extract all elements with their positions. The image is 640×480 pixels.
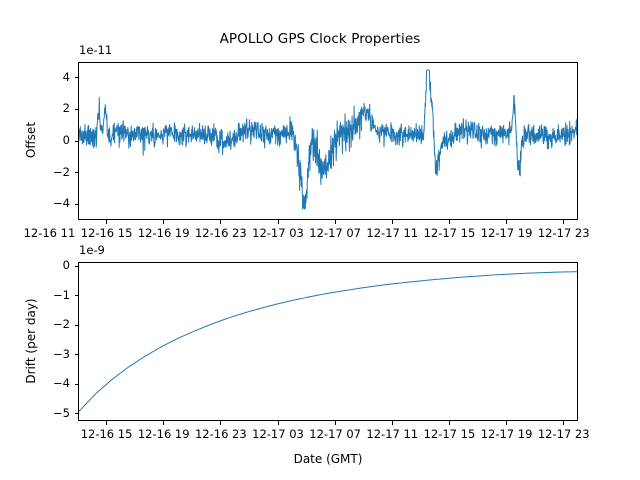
drift-xtick-label: 12-17 07 [309,427,361,441]
drift-ytick-label: −3 [30,347,70,361]
offset-ytick-mark [75,109,79,110]
drift-xtick-label: 12-17 11 [366,427,418,441]
offset-xtick-label: 12-17 19 [481,226,533,240]
drift-xtick-label: 12-17 19 [481,427,533,441]
offset-xtick-mark [392,220,393,224]
offset-ytick-mark [75,172,79,173]
drift-plot-area [78,262,578,421]
drift-ytick-label: −4 [30,376,70,390]
offset-plot-area [78,62,578,220]
drift-ytick-mark [75,384,79,385]
figure-canvas: APOLLO GPS Clock Properties 1e-11 Offset… [0,0,640,480]
offset-xtick-label: 12-16 23 [195,226,247,240]
drift-xtick-mark [392,421,393,425]
drift-ytick-label: −1 [30,288,70,302]
drift-xtick-mark [563,421,564,425]
drift-xtick-mark [506,421,507,425]
offset-xtick-label: 12-17 11 [366,226,418,240]
offset-xtick-mark [335,220,336,224]
offset-xtick-mark [106,220,107,224]
drift-xtick-mark [278,421,279,425]
offset-series-svg [79,63,577,219]
offset-ytick-label: −2 [30,165,70,179]
drift-ytick-mark [75,266,79,267]
drift-xtick-mark [335,421,336,425]
drift-ytick-mark [75,325,79,326]
drift-ytick-mark [75,413,79,414]
offset-xtick-mark [278,220,279,224]
offset-xtick-label: 12-17 23 [538,226,590,240]
offset-series-line [79,70,577,209]
offset-xtick-label-clipped: 12-16 11 [24,226,76,240]
drift-xtick-label: 12-17 15 [424,427,476,441]
drift-xtick-label: 12-16 19 [138,427,190,441]
drift-series-svg [79,263,577,420]
offset-xtick-mark [163,220,164,224]
offset-ytick-mark [75,141,79,142]
drift-xtick-mark [449,421,450,425]
offset-xtick-label: 12-16 15 [81,226,133,240]
drift-exponent-label: 1e-9 [79,243,105,257]
offset-xtick-label: 12-17 15 [424,226,476,240]
drift-xtick-label: 12-17 23 [538,427,590,441]
offset-ytick-label: 4 [30,70,70,84]
drift-ytick-label: −2 [30,317,70,331]
drift-xtick-mark [163,421,164,425]
drift-series-line [79,272,577,412]
offset-xtick-label: 12-17 07 [309,226,361,240]
offset-ytick-label: −4 [30,196,70,210]
x-axis-label: Date (GMT) [78,452,578,466]
drift-ytick-mark [75,295,79,296]
offset-xtick-label: 12-17 03 [252,226,304,240]
offset-xtick-label: 12-16 19 [138,226,190,240]
offset-ytick-label: 2 [30,101,70,115]
drift-ytick-label: −5 [30,406,70,420]
offset-xtick-mark [220,220,221,224]
drift-xtick-label: 12-16 15 [81,427,133,441]
offset-xtick-mark [506,220,507,224]
drift-xtick-label: 12-17 03 [252,427,304,441]
drift-ytick-label: 0 [30,258,70,272]
offset-ytick-mark [75,204,79,205]
offset-xtick-mark [449,220,450,224]
drift-xtick-label: 12-16 23 [195,427,247,441]
offset-xtick-mark [563,220,564,224]
offset-ytick-label: 0 [30,133,70,147]
offset-exponent-label: 1e-11 [79,43,112,57]
drift-ytick-mark [75,354,79,355]
offset-ytick-mark [75,77,79,78]
drift-xtick-mark [220,421,221,425]
drift-xtick-mark [106,421,107,425]
